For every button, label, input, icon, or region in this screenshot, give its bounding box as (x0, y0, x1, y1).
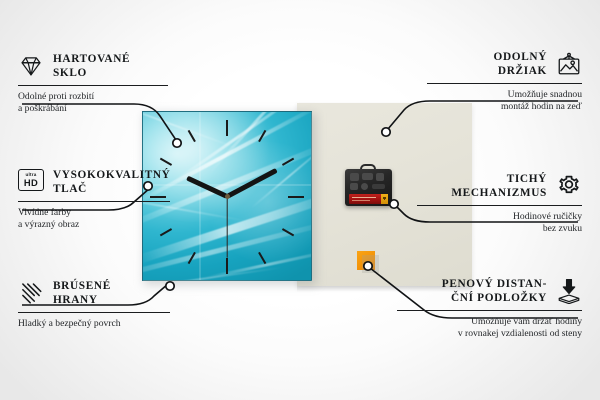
divider (18, 201, 170, 202)
polished-edges-icon (18, 280, 44, 306)
gear-icon (556, 173, 582, 199)
feature-glass-desc-1: Odolné proti rozbití (18, 91, 168, 103)
feature-mechanism-desc-2: bez zvuku (417, 223, 582, 235)
feature-edges-title-2: HRANY (53, 293, 111, 307)
wall-frame-hanger-icon (556, 51, 582, 77)
second-hand (226, 196, 227, 258)
feature-glass-desc-2: a poškrábání (18, 103, 168, 115)
feature-mechanism: TICHÝ MECHANIZMUS Hodinové ručičky bez z… (417, 172, 582, 235)
feature-foam-desc-1: Umožňuje vám držať hodiny (397, 316, 582, 328)
divider (417, 205, 582, 206)
feature-foam-title-1: PENOVÝ DISTAN- (442, 277, 547, 291)
hand-pin (225, 194, 230, 199)
feature-mechanism-title-2: MECHANIZMUS (451, 186, 547, 200)
feature-holder-desc-2: montáž hodin na zeď (427, 101, 582, 113)
feature-foam: PENOVÝ DISTAN- ČNÍ PODLOŽKY Umožňuje vám… (397, 277, 582, 340)
feature-print-desc-2: a výrazný obraz (18, 219, 170, 231)
feature-glass: HARTOVANÉ SKLO Odolné proti rozbití a po… (18, 52, 168, 115)
foam-spacer-pad (357, 251, 375, 270)
feature-print-title-2: TLAČ (53, 182, 171, 196)
feature-glass-title-2: SKLO (53, 66, 130, 80)
feature-foam-desc-2: v rovnakej vzdialenosti od steny (397, 328, 582, 340)
ultra-hd-icon: ultra HD (18, 169, 44, 195)
feature-print: ultra HD VYSOKOKVALITNÝ TLAČ Vivídne far… (18, 168, 170, 231)
infographic-canvas: HARTOVANÉ SKLO Odolné proti rozbití a po… (0, 0, 600, 400)
divider (397, 310, 582, 311)
tick-12 (226, 120, 228, 136)
feature-foam-title-2: ČNÍ PODLOŽKY (442, 291, 547, 305)
feature-glass-title-1: HARTOVANÉ (53, 52, 130, 66)
foam-spacer-arrow-icon (556, 278, 582, 304)
tick-3 (288, 196, 304, 198)
feature-edges-title-1: BRÚSENÉ (53, 279, 111, 293)
feature-holder-title-1: ODOLNÝ (494, 50, 547, 64)
feature-holder: ODOLNÝ DRŽIAK Umožňuje snadnou montáž ho… (427, 50, 582, 113)
feature-edges: BRÚSENÉ HRANY Hladký a bezpečný povrch (18, 279, 170, 330)
feature-print-desc-1: Vivídne farby (18, 207, 170, 219)
feature-holder-desc-1: Umožňuje snadnou (427, 89, 582, 101)
divider (18, 312, 170, 313)
feature-edges-desc-1: Hladký a bezpečný povrch (18, 318, 170, 330)
divider (18, 85, 168, 86)
feature-mechanism-desc-1: Hodinové ručičky (417, 211, 582, 223)
feature-print-title-1: VYSOKOKVALITNÝ (53, 168, 171, 182)
diamond-icon (18, 53, 44, 79)
clock-mechanism (345, 164, 392, 206)
tick-6 (226, 258, 228, 274)
feature-holder-title-2: DRŽIAK (494, 64, 547, 78)
mechanism-body (345, 169, 392, 206)
battery (349, 194, 388, 204)
feature-mechanism-title-1: TICHÝ (451, 172, 547, 186)
divider (427, 83, 582, 84)
ultra-hd-icon-main-label: HD (24, 178, 38, 187)
